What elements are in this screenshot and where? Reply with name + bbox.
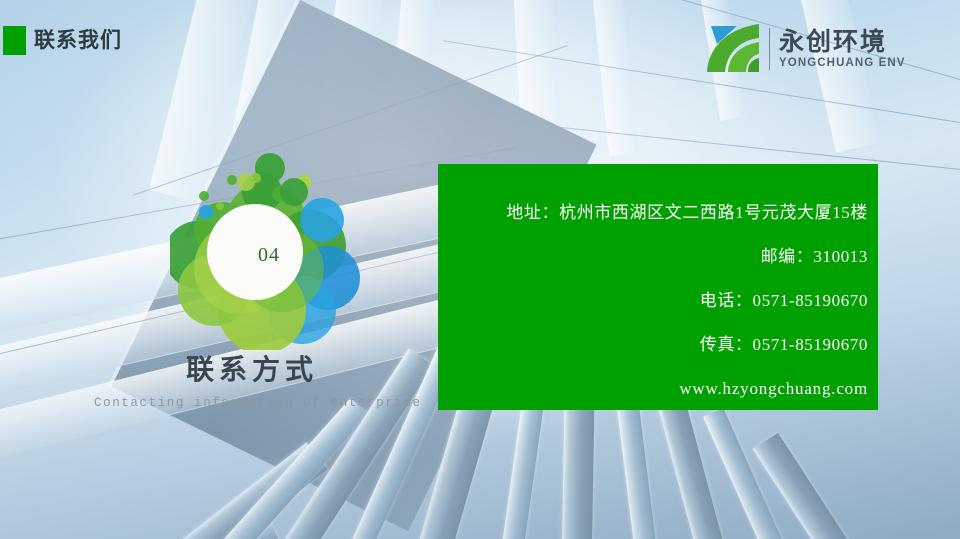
contact-info-panel: 地址：杭州市西湖区文二西路1号元茂大厦15楼 邮编：310013 电话：0571… [438, 164, 878, 410]
contact-address: 地址：杭州市西湖区文二西路1号元茂大厦15楼 [506, 204, 868, 221]
logo-name-cn: 永创环境 [779, 29, 906, 55]
page-title: 联系我们 [34, 26, 122, 55]
logo-text: 永创环境 YONGCHUANG ENV [779, 29, 906, 68]
green-square-marker-icon [3, 26, 26, 55]
contact-website[interactable]: www.hzyongchuang.com [679, 380, 868, 397]
contact-phone: 电话：0571-85190670 [700, 292, 868, 309]
badge-number: 04 [170, 150, 360, 350]
section-subtitle: Contacting information of enterprise [94, 396, 422, 410]
contact-fax: 传真：0571-85190670 [700, 336, 868, 353]
slide-canvas: 联系我们 永创环境 YONGCHUANG ENV [0, 0, 960, 539]
logo-divider [769, 28, 770, 70]
contact-postcode: 邮编：310013 [761, 248, 868, 265]
logo-name-en: YONGCHUANG ENV [779, 57, 906, 69]
section-number-badge: 04 [170, 150, 360, 350]
company-logo: 永创环境 YONGCHUANG ENV [703, 18, 913, 80]
leaf-swoosh-logo-mark-icon [703, 22, 765, 76]
section-title: 联系方式 [186, 348, 318, 388]
